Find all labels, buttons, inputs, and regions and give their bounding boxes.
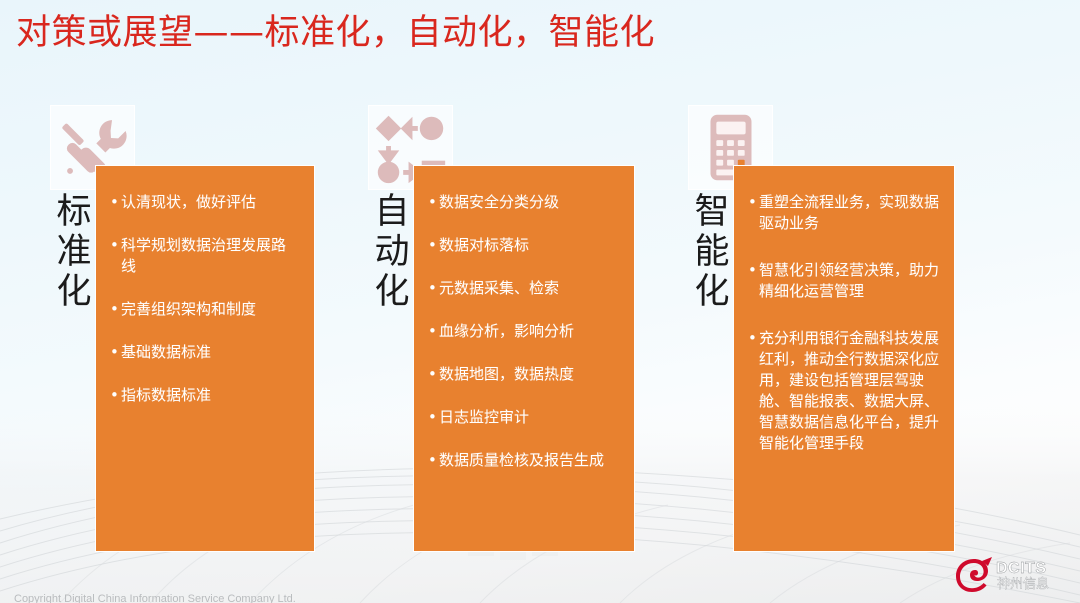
label-char: 准 — [52, 232, 96, 272]
bullet-list-standardization: 认清现状，做好评估 科学规划数据治理发展路线 完善组织架构和制度 基础数据标准 … — [110, 192, 300, 406]
bullet-item: 数据地图，数据热度 — [428, 364, 620, 385]
slide-canvas: 对策或展望——标准化，自动化，智能化 标 准 化 — [0, 0, 1080, 603]
slide-title: 对策或展望——标准化，自动化，智能化 — [16, 8, 655, 58]
bullet-item: 智慧化引领经营决策，助力精细化运营管理 — [748, 260, 940, 302]
card-automation[interactable]: 数据安全分类分级 数据对标落标 元数据采集、检索 血缘分析，影响分析 数据地图，… — [413, 165, 635, 552]
bullet-item: 充分利用银行金融科技发展红利，推动全行数据深化应用，建设包括管理层驾驶舱、智能报… — [748, 328, 940, 454]
card-intelligence[interactable]: 重塑全流程业务，实现数据驱动业务 智慧化引领经营决策，助力精细化运营管理 充分利… — [733, 165, 955, 552]
bullet-list-automation: 数据安全分类分级 数据对标落标 元数据采集、检索 血缘分析，影响分析 数据地图，… — [428, 192, 620, 471]
bullet-item: 完善组织架构和制度 — [110, 299, 300, 320]
bullet-item: 数据安全分类分级 — [428, 192, 620, 213]
label-char: 智 — [690, 192, 734, 232]
bullet-item: 认清现状，做好评估 — [110, 192, 300, 213]
column-label-automation: 自 动 化 — [370, 192, 414, 312]
bullet-item: 日志监控审计 — [428, 407, 620, 428]
bullet-item: 指标数据标准 — [110, 385, 300, 406]
label-char: 化 — [690, 272, 734, 312]
label-char: 化 — [370, 272, 414, 312]
bullet-item: 重塑全流程业务，实现数据驱动业务 — [748, 192, 940, 234]
bullet-item: 数据质量检核及报告生成 — [428, 450, 620, 471]
label-char: 自 — [370, 192, 414, 232]
column-label-standardization: 标 准 化 — [52, 192, 96, 312]
dcits-logo: DCITS 神州信息 — [952, 555, 1070, 595]
bullet-item: 科学规划数据治理发展路线 — [110, 235, 300, 277]
bullet-item: 数据对标落标 — [428, 235, 620, 256]
column-label-intelligence: 智 能 化 — [690, 192, 734, 312]
label-char: 能 — [690, 232, 734, 272]
bullet-item: 基础数据标准 — [110, 342, 300, 363]
svg-text:DCITS: DCITS — [996, 560, 1047, 577]
label-char: 标 — [52, 192, 96, 232]
bullet-item: 血缘分析，影响分析 — [428, 321, 620, 342]
card-standardization[interactable]: 认清现状，做好评估 科学规划数据治理发展路线 完善组织架构和制度 基础数据标准 … — [95, 165, 315, 552]
label-char: 化 — [52, 272, 96, 312]
copyright-text: Copyright Digital China Information Serv… — [14, 592, 296, 603]
label-char: 动 — [370, 232, 414, 272]
svg-text:神州信息: 神州信息 — [997, 576, 1049, 592]
bullet-item: 元数据采集、检索 — [428, 278, 620, 299]
bullet-list-intelligence: 重塑全流程业务，实现数据驱动业务 智慧化引领经营决策，助力精细化运营管理 充分利… — [748, 192, 940, 454]
